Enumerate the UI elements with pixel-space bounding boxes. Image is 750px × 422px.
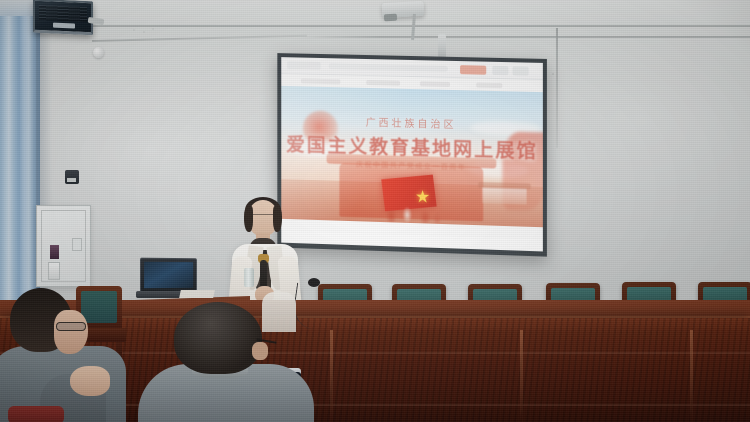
toolbar-item-4[interactable]: [476, 83, 502, 89]
ceiling-edge: [0, 25, 750, 27]
wall-seam-right: [300, 36, 750, 38]
outlet-plate: [72, 238, 82, 251]
pavilion-illustration: [482, 187, 526, 204]
blue-curtain: [0, 0, 40, 312]
wall-panel-join: [556, 28, 558, 148]
desk-seam-2: [520, 330, 523, 422]
wall-speaker-icon: [33, 0, 93, 35]
audience-front-left: [0, 288, 122, 422]
speaker-badge: [53, 23, 75, 29]
browser-button-primary[interactable]: [460, 65, 486, 75]
browser-tab[interactable]: [287, 61, 320, 70]
audience-left-hand: [70, 366, 110, 396]
projector-lens: [384, 14, 397, 22]
microphone-capsule-icon: [308, 278, 320, 287]
browser-address-bar[interactable]: [329, 63, 448, 72]
projection-screen: 广西壮族自治区 爱国主义教育基地网上展馆 庆祝中国共产党成立一百周年 ★: [277, 53, 547, 257]
audience-center-head: [174, 302, 262, 374]
wall-marks-left: [130, 26, 158, 42]
laptop-screen: [144, 262, 193, 288]
light-switch[interactable]: [50, 245, 59, 259]
wall-junction-box: [65, 170, 79, 184]
audience-left-glasses-icon: [56, 322, 86, 331]
audience-front-center: [156, 302, 296, 422]
gold-star-icon: ★: [415, 188, 430, 205]
switch-plate[interactable]: [48, 262, 60, 280]
toolbar-item-3[interactable]: [420, 81, 450, 87]
browser-button-secondary[interactable]: [492, 66, 508, 75]
screen-surface: 广西壮族自治区 爱国主义教育基地网上展馆 庆祝中国共产党成立一百周年 ★: [281, 57, 543, 251]
toolbar-item-1[interactable]: [301, 78, 340, 84]
toolbar-item-2[interactable]: [366, 80, 400, 86]
desk-seam-1: [330, 330, 333, 422]
ceiling: [0, 0, 750, 26]
browser-button-tertiary[interactable]: [512, 66, 528, 75]
audience-left-red-garment: [8, 406, 64, 422]
wall-knob: [93, 47, 104, 58]
audience-left-face: [54, 310, 88, 354]
papers-on-desk: [179, 290, 215, 298]
slide-content: 广西壮族自治区 爱国主义教育基地网上展馆 庆祝中国共产党成立一百周年 ★: [281, 86, 543, 239]
wall-electrical-panel: [36, 205, 91, 287]
presenter-glasses-icon: [249, 214, 277, 220]
photo-scene: 广西壮族自治区 爱国主义教育基地网上展馆 庆祝中国共产党成立一百周年 ★: [0, 0, 750, 422]
desk-seam-3: [690, 330, 693, 422]
speaker-grill: [39, 5, 87, 22]
water-bottle: [244, 268, 254, 287]
screen-mount-bracket: [438, 34, 446, 58]
laptop-lid: [140, 258, 197, 293]
